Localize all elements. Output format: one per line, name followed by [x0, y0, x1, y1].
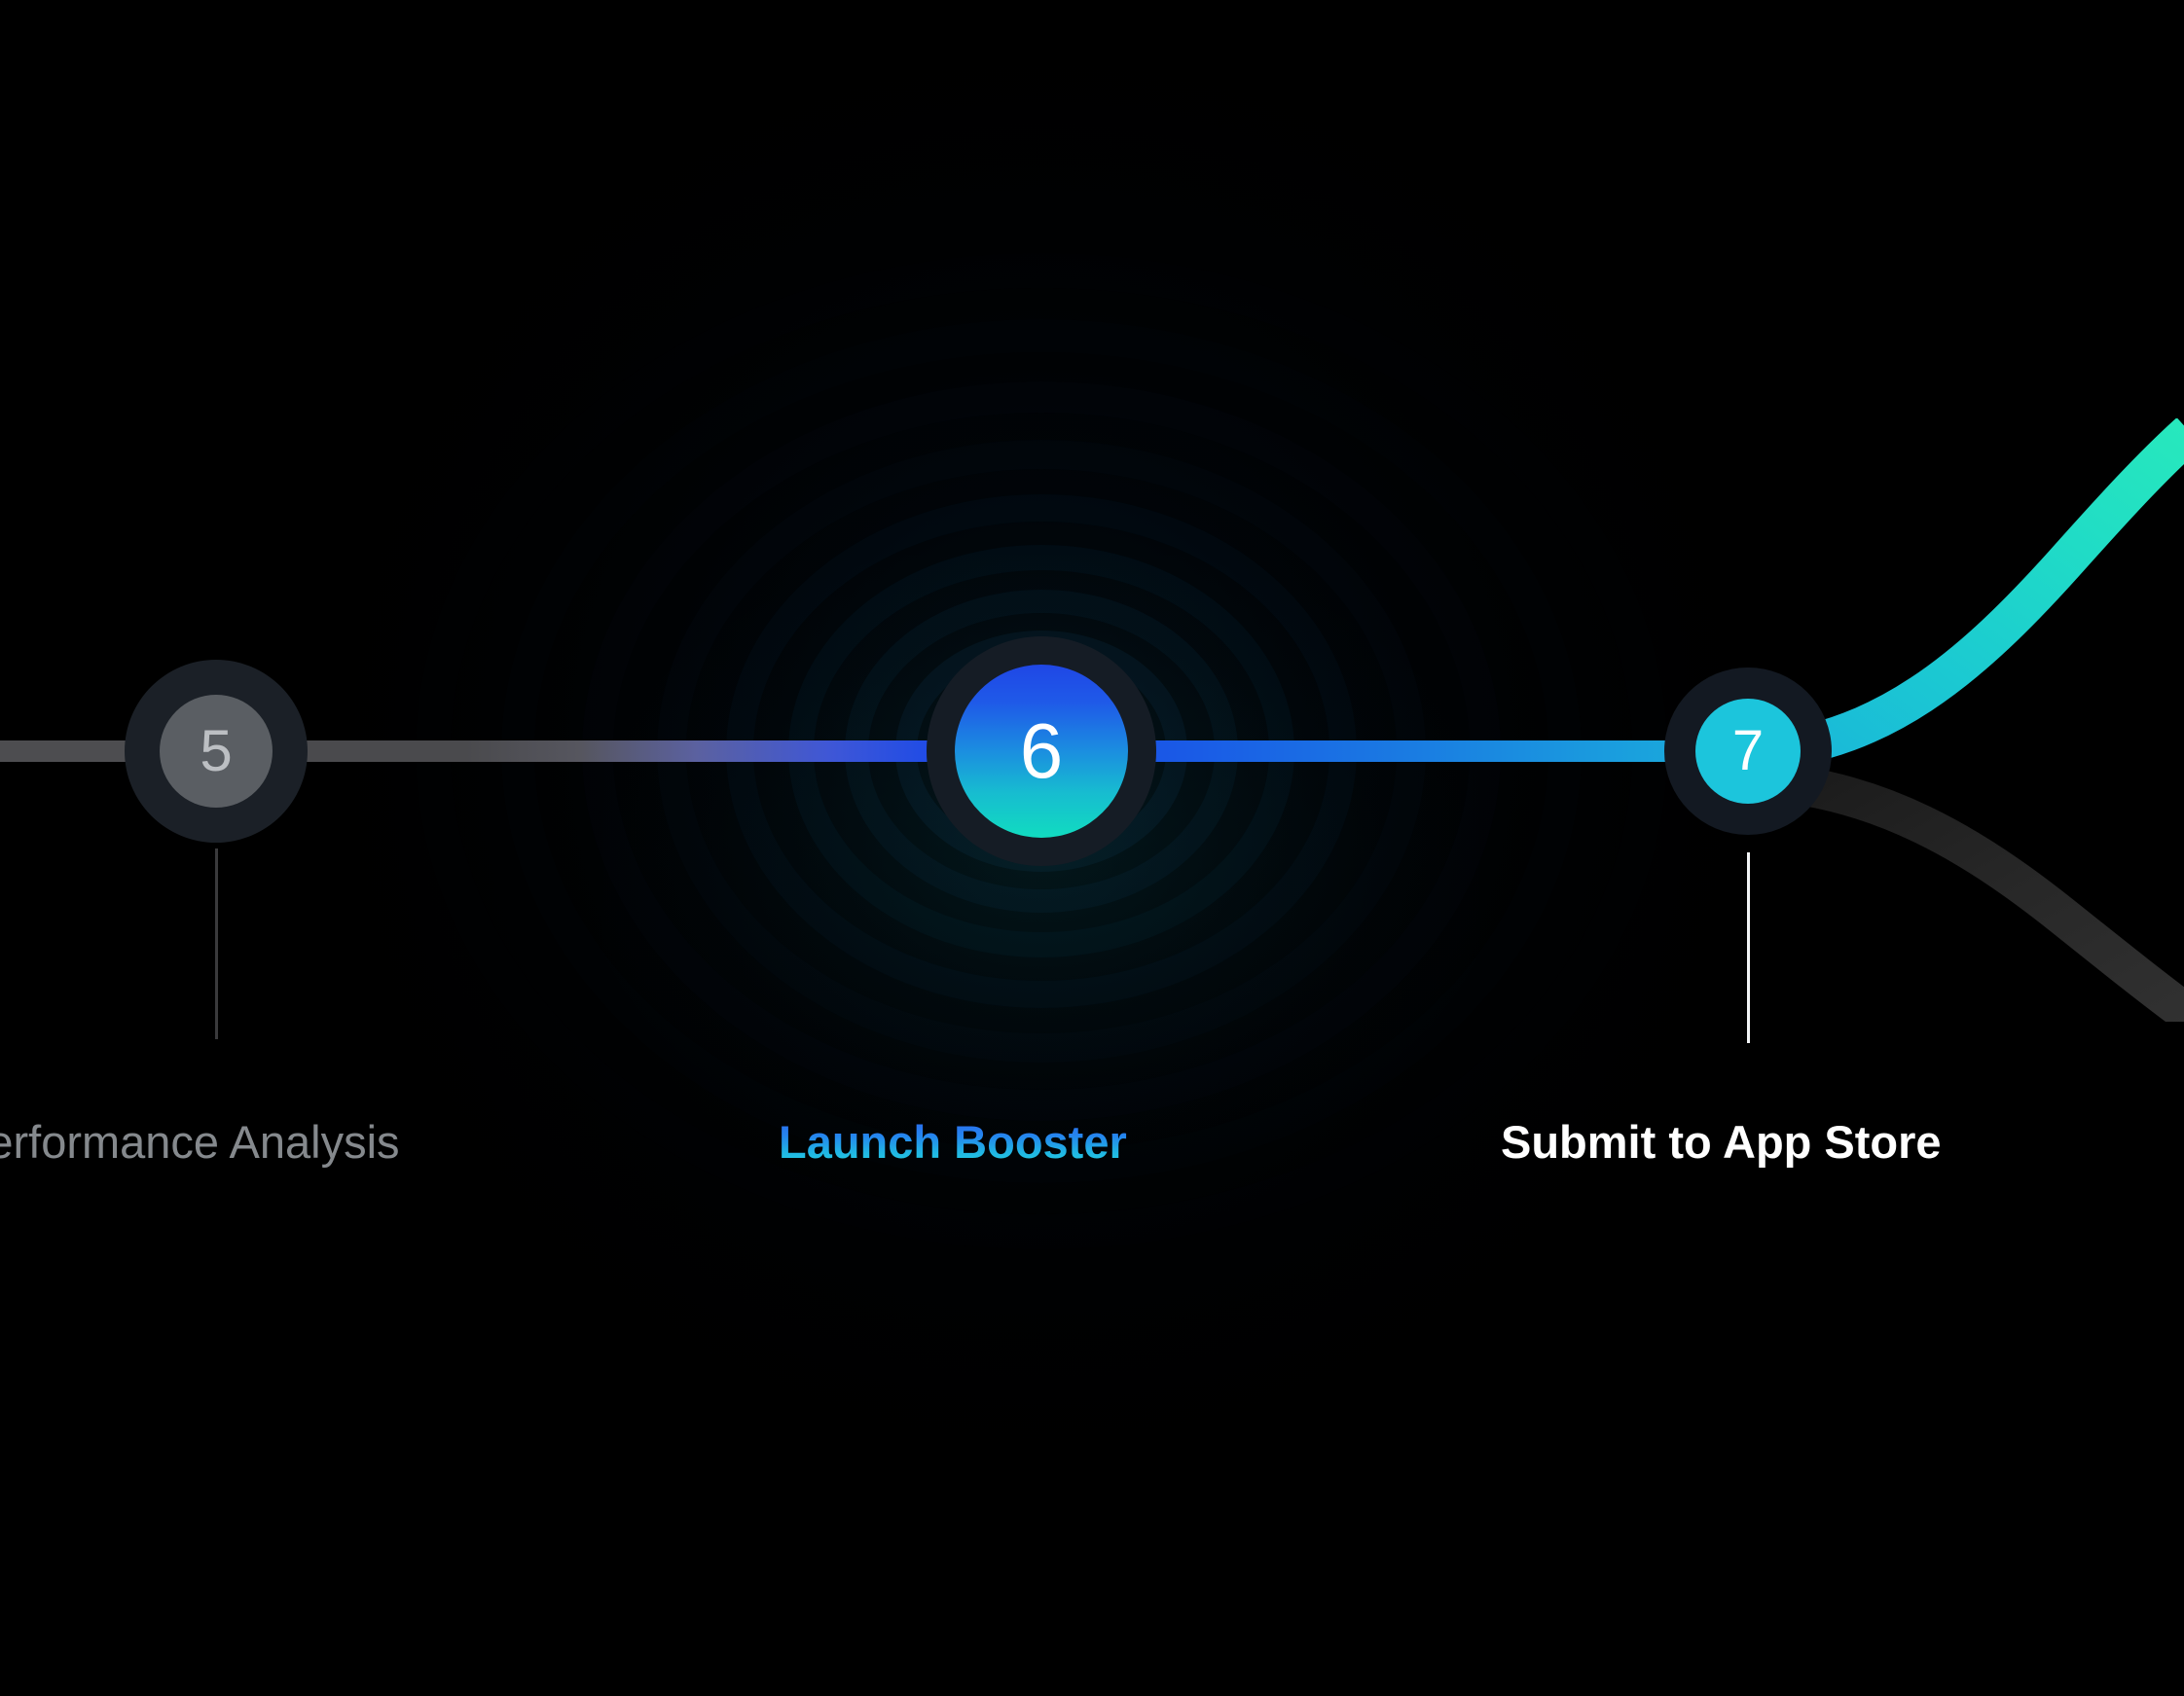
branch-curve-down [1752, 780, 2184, 1020]
track-segment-to-active [218, 740, 1043, 762]
timeline-canvas: 5 6 7 Performance Analysis Launch Booste… [0, 0, 2184, 1696]
tick-line-step-5 [215, 848, 218, 1039]
timeline-node-5-number: 5 [160, 695, 273, 808]
step-label-submit-to-app-store[interactable]: Submit to App Store [1501, 1115, 1942, 1169]
timeline-node-7-number: 7 [1695, 699, 1801, 804]
timeline-node-6-number: 6 [955, 665, 1128, 838]
step-label-performance-analysis[interactable]: Performance Analysis [0, 1115, 400, 1169]
tick-line-step-7 [1747, 852, 1750, 1043]
timeline-node-7[interactable]: 7 [1664, 668, 1832, 835]
step-label-launch-booster[interactable]: Launch Booster [779, 1115, 1127, 1169]
timeline-node-6[interactable]: 6 [927, 636, 1156, 866]
timeline-node-5[interactable]: 5 [125, 660, 308, 843]
